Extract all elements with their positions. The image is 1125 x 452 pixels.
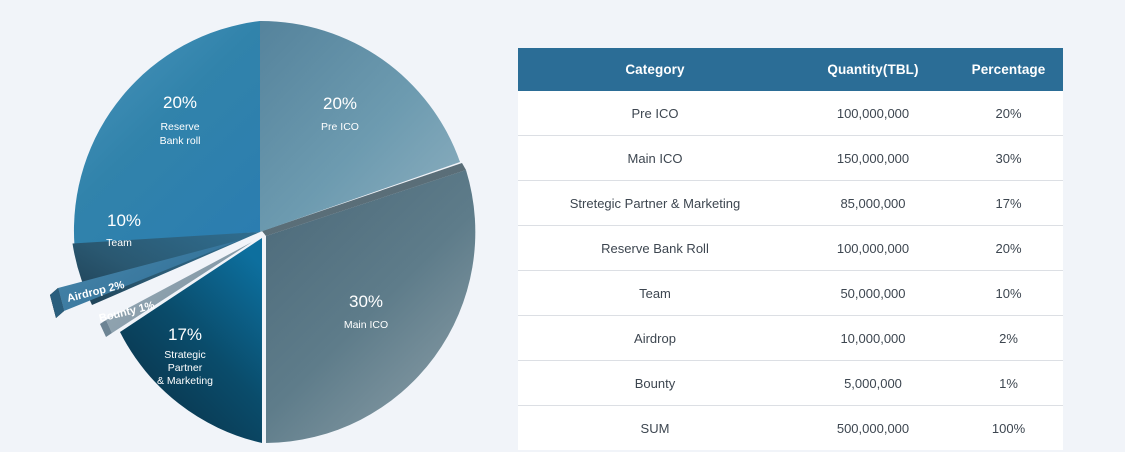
pie-chart-panel: 20% Pre ICO 30% Main ICO 17% Strategic P… [0, 0, 500, 452]
column-header-quantity: Quantity(TBL) [792, 48, 954, 91]
cell-category: Stretegic Partner & Marketing [518, 181, 792, 226]
table-row: Main ICO 150,000,000 30% [518, 136, 1063, 181]
cell-percentage: 10% [954, 271, 1063, 316]
cell-percentage: 20% [954, 91, 1063, 136]
pie-slice-reserve-bank-roll[interactable] [74, 21, 260, 246]
table-header: Category Quantity(TBL) Percentage [518, 48, 1063, 91]
column-header-percentage: Percentage [954, 48, 1063, 91]
pie-label-strategic-line3: & Marketing [157, 375, 213, 387]
pie-label-pre-ico-name: Pre ICO [321, 121, 359, 133]
cell-category: Pre ICO [518, 91, 792, 136]
table-row: Airdrop 10,000,000 2% [518, 316, 1063, 361]
cell-percentage: 17% [954, 181, 1063, 226]
cell-category: Bounty [518, 361, 792, 406]
cell-quantity: 85,000,000 [792, 181, 954, 226]
cell-percentage: 100% [954, 406, 1063, 451]
cell-quantity: 10,000,000 [792, 316, 954, 361]
cell-quantity: 100,000,000 [792, 226, 954, 271]
pie-label-strategic-line1: Strategic [164, 349, 205, 361]
pie-label-reserve-pct: 20% [163, 93, 197, 112]
table-body: Pre ICO 100,000,000 20% Main ICO 150,000… [518, 91, 1063, 450]
allocation-pie-chart: 20% Pre ICO 30% Main ICO 17% Strategic P… [0, 0, 500, 452]
pie-label-strategic-pct: 17% [168, 325, 202, 344]
allocation-table-panel: Category Quantity(TBL) Percentage Pre IC… [518, 48, 1057, 450]
table-row: Bounty 5,000,000 1% [518, 361, 1063, 406]
pie-label-strategic-line2: Partner [168, 362, 203, 374]
table-row: Stretegic Partner & Marketing 85,000,000… [518, 181, 1063, 226]
table-row: Pre ICO 100,000,000 20% [518, 91, 1063, 136]
allocation-table: Category Quantity(TBL) Percentage Pre IC… [518, 48, 1063, 450]
column-header-category: Category [518, 48, 792, 91]
cell-quantity: 5,000,000 [792, 361, 954, 406]
cell-category: Airdrop [518, 316, 792, 361]
table-row-sum: SUM 500,000,000 100% [518, 406, 1063, 451]
pie-label-main-ico-pct: 30% [349, 292, 383, 311]
cell-category: Main ICO [518, 136, 792, 181]
cell-percentage: 30% [954, 136, 1063, 181]
cell-percentage: 2% [954, 316, 1063, 361]
cell-quantity: 100,000,000 [792, 91, 954, 136]
cell-category: Team [518, 271, 792, 316]
pie-label-reserve-line1: Reserve [160, 121, 199, 133]
pie-label-reserve-line2: Bank roll [160, 135, 201, 147]
pie-label-team-name: Team [106, 237, 132, 249]
cell-category: Reserve Bank Roll [518, 226, 792, 271]
table-row: Team 50,000,000 10% [518, 271, 1063, 316]
table-row: Reserve Bank Roll 100,000,000 20% [518, 226, 1063, 271]
pie-label-team-pct: 10% [107, 211, 141, 230]
cell-percentage: 20% [954, 226, 1063, 271]
pie-label-main-ico-name: Main ICO [344, 319, 388, 331]
cell-quantity: 150,000,000 [792, 136, 954, 181]
pie-label-pre-ico-pct: 20% [323, 94, 357, 113]
table-header-row: Category Quantity(TBL) Percentage [518, 48, 1063, 91]
cell-quantity: 500,000,000 [792, 406, 954, 451]
cell-quantity: 50,000,000 [792, 271, 954, 316]
cell-category: SUM [518, 406, 792, 451]
cell-percentage: 1% [954, 361, 1063, 406]
